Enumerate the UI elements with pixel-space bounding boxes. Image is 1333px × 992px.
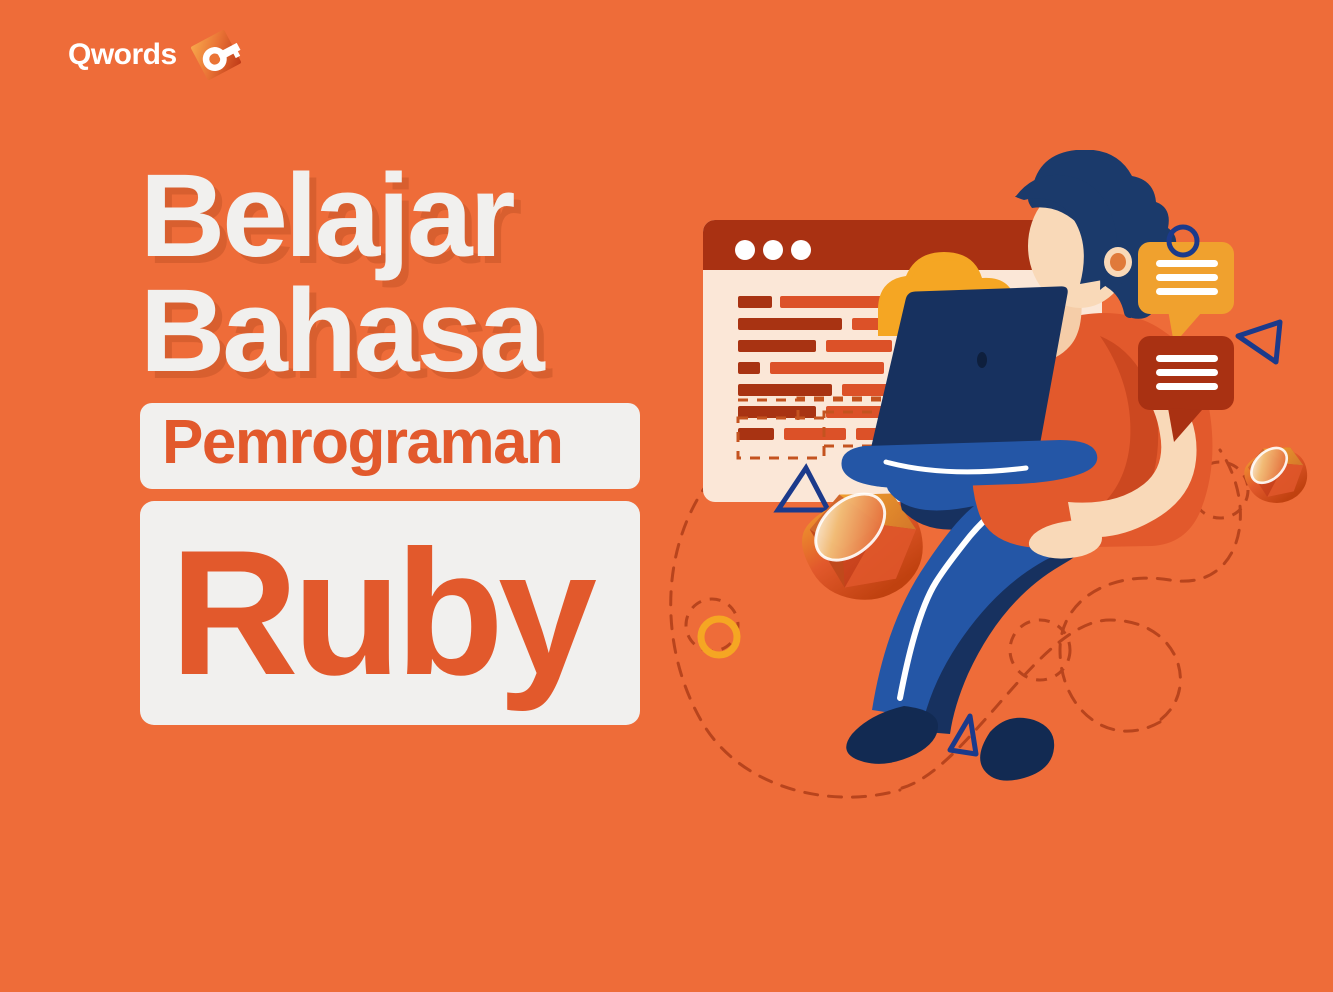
blue-triangle-outline-bottom (950, 716, 976, 754)
headline-line-2: Bahasa (140, 275, 660, 388)
language-chip-label: Ruby (170, 531, 591, 695)
headline-line-1: Belajar (140, 160, 660, 273)
subtitle-chip: Pemrograman (140, 403, 640, 489)
laptop-camera-dot (977, 352, 987, 368)
brand-logo[interactable]: Qwords (68, 24, 247, 86)
hero-illustration (640, 150, 1333, 850)
browser-dots (735, 240, 811, 260)
language-chip: Ruby (140, 501, 640, 725)
headline-block: Belajar Bahasa Pemrograman Ruby (140, 160, 660, 725)
brand-name: Qwords (68, 40, 177, 70)
poster-canvas: Qwords Bel (0, 0, 1333, 992)
shoe-front (980, 718, 1054, 781)
illustration-svg (640, 150, 1333, 850)
subtitle-chip-label: Pemrograman (162, 409, 626, 477)
blue-triangle-outline-right (1238, 322, 1280, 362)
ear-inner (1110, 253, 1126, 271)
amber-circle-outline (701, 619, 737, 655)
ruby-gem-small (1238, 435, 1313, 510)
shoe-back (846, 706, 938, 764)
key-in-tilted-square-icon (185, 24, 247, 86)
